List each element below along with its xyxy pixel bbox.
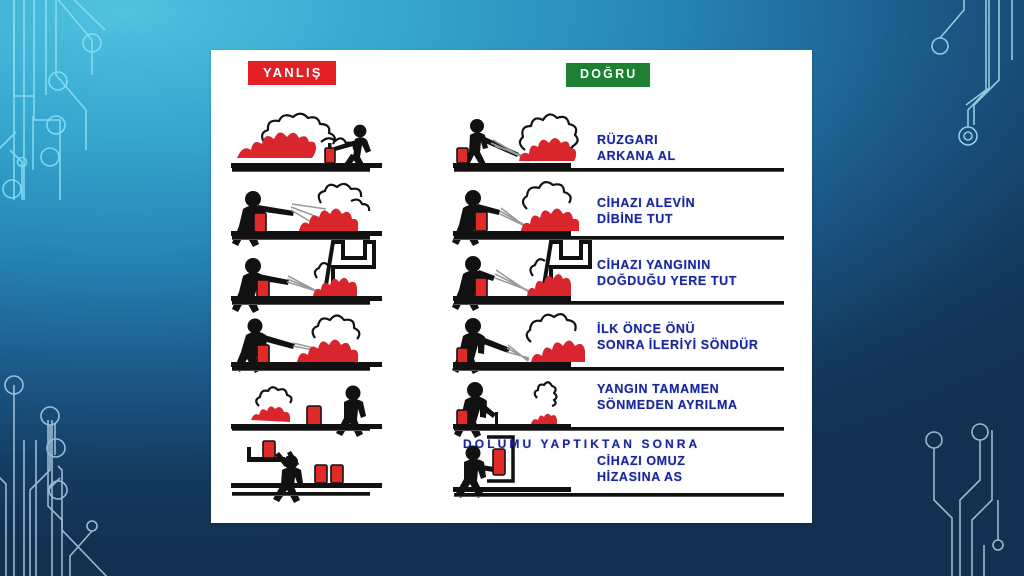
row-5-rule-right [454,427,784,431]
row-4-caption-line-1: İLK ÖNCE ÖNÜ [597,322,759,338]
row-6-caption-line-1: DOLUMU YAPTIKTAN SONRA [463,437,700,452]
row-1-wrong-illustration [229,110,384,172]
row-4-wrong-illustration [229,312,384,374]
row-5-rule-wrong [232,427,370,431]
row-6-wrong-illustration [229,435,384,495]
row-1-rule-wrong [232,168,370,172]
row-2-correct-illustration [451,183,603,243]
row-4-rule-right [454,367,784,371]
circuit-decoration-left [0,0,215,576]
row-2-caption: CİHAZI ALEVİN DİBİNE TUT [597,196,695,227]
instruction-poster: YANLIŞ DOĞRU [211,50,812,523]
row-5-caption-line-1: YANGIN TAMAMEN [597,382,738,398]
row-3-correct-illustration [451,246,603,308]
row-5-caption-line-2: SÖNMEDEN AYRILMA [597,398,738,414]
row-1-caption-line-2: ARKANA AL [597,149,676,165]
row-3-rule-right [454,301,784,305]
row-5-correct-illustration [451,376,603,432]
row-6-caption-line-3: HİZASINA AS [597,470,686,486]
row-6-rule-wrong [232,492,370,496]
row-6-rule-right [454,493,784,497]
row-4-correct-illustration [451,312,603,374]
badge-wrong: YANLIŞ [248,61,336,85]
slide-background: YANLIŞ DOĞRU [0,0,1024,576]
row-2-rule-wrong [232,236,370,240]
row-4-caption-line-2: SONRA İLERİYİ SÖNDÜR [597,338,759,354]
row-6-caption-wide: DOLUMU YAPTIKTAN SONRA [463,437,700,452]
row-2-caption-line-2: DİBİNE TUT [597,212,695,228]
circuit-decoration-right [894,0,1024,576]
row-6-caption: CİHAZI OMUZ HİZASINA AS [597,454,686,485]
row-2-caption-line-1: CİHAZI ALEVİN [597,196,695,212]
row-4-rule-wrong [232,367,370,371]
badge-correct: DOĞRU [566,63,650,87]
row-3-caption: CİHAZI YANGININ DOĞDUĞU YERE TUT [597,258,737,289]
row-2-rule-right [454,236,784,240]
row-3-rule-wrong [232,301,370,305]
row-4-caption: İLK ÖNCE ÖNÜ SONRA İLERİYİ SÖNDÜR [597,322,759,353]
row-5-caption: YANGIN TAMAMEN SÖNMEDEN AYRILMA [597,382,738,413]
row-1-correct-illustration [451,110,603,172]
row-3-wrong-illustration [229,246,384,308]
row-3-caption-line-2: DOĞDUĞU YERE TUT [597,274,737,290]
row-5-wrong-illustration [229,376,384,432]
row-1-caption: RÜZGARI ARKANA AL [597,133,676,164]
row-3-caption-line-1: CİHAZI YANGININ [597,258,737,274]
row-6-caption-line-2: CİHAZI OMUZ [597,454,686,470]
row-1-caption-line-1: RÜZGARI [597,133,676,149]
row-1-rule-right [454,168,784,172]
row-2-wrong-illustration [229,183,384,243]
